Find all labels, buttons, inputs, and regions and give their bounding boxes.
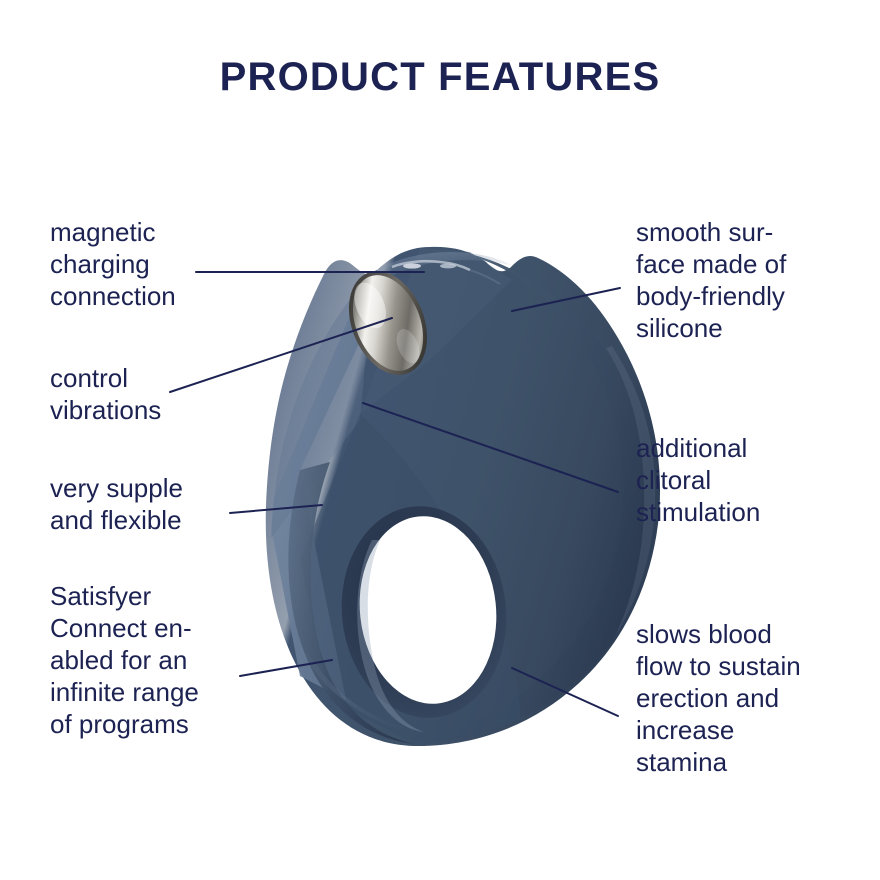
leader-line-smooth xyxy=(512,288,620,311)
callout-satisfyer-connect: Satisfyer Connect en- abled for an infin… xyxy=(50,580,265,740)
callout-control-vibrations: control vibrations xyxy=(50,362,265,426)
callout-magnetic-charging-connection: magnetic charging connection xyxy=(50,216,265,312)
callout-very-supple-and-flexible: very supple and flexible xyxy=(50,472,270,536)
leader-line-blood xyxy=(512,668,618,716)
page-title: PRODUCT FEATURES xyxy=(0,55,880,100)
leader-line-clitoral xyxy=(363,403,618,492)
callout-smooth-surface-silicone: smooth sur- face made of body-friendly s… xyxy=(636,216,866,344)
product-features-infographic: PRODUCT FEATURES magnetic charging conne… xyxy=(0,0,880,880)
callout-additional-clitoral-stimulation: additional clitoral stimulation xyxy=(636,432,861,528)
callout-slows-blood-flow: slows blood flow to sustain erection and… xyxy=(636,618,868,778)
